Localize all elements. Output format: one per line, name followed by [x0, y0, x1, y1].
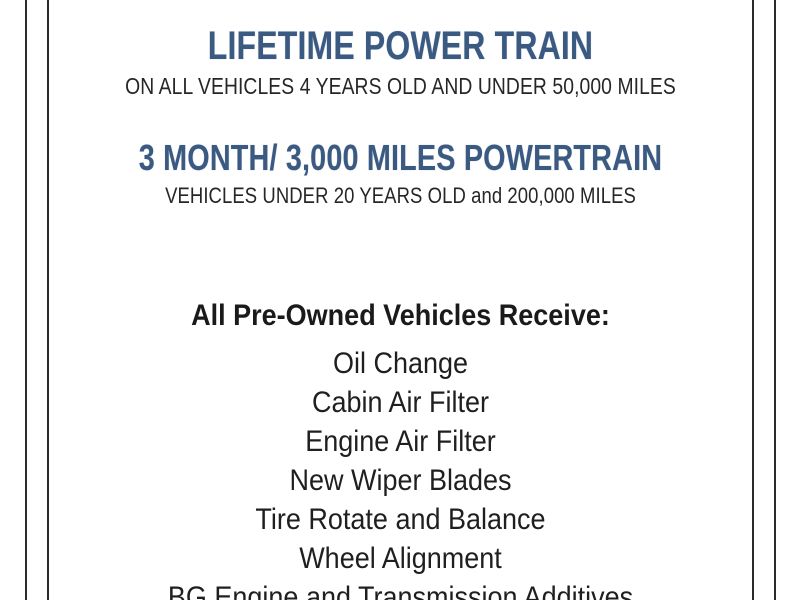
warranty-headline-three-month: 3 MONTH/ 3,000 MILES POWERTRAIN	[119, 140, 681, 176]
included-service-item: Tire Rotate and Balance	[84, 500, 717, 539]
included-service-item: Oil Change	[84, 344, 717, 383]
included-services-block: All Pre-Owned Vehicles Receive: Oil Chan…	[49, 301, 752, 600]
included-service-item: New Wiper Blades	[84, 461, 717, 500]
included-service-item: Cabin Air Filter	[84, 383, 717, 422]
warranty-offer-three-month: 3 MONTH/ 3,000 MILES POWERTRAIN VEHICLES…	[49, 140, 752, 207]
frame-rule-inner-right	[752, 0, 754, 600]
frame-rule-outer-left	[25, 0, 27, 600]
included-service-item: Wheel Alignment	[84, 539, 717, 578]
flyer-content: LIFETIME POWER TRAIN ON ALL VEHICLES 4 Y…	[49, 0, 752, 600]
warranty-headline-lifetime: LIFETIME POWER TRAIN	[119, 26, 681, 66]
included-service-item: BG Engine and Transmission Additives	[84, 578, 717, 600]
included-services-list: Oil ChangeCabin Air FilterEngine Air Fil…	[49, 344, 752, 600]
included-service-item: Engine Air Filter	[84, 422, 717, 461]
frame-rule-outer-right	[774, 0, 776, 600]
included-services-heading: All Pre-Owned Vehicles Receive:	[84, 301, 717, 331]
warranty-subline-lifetime: ON ALL VEHICLES 4 YEARS OLD AND UNDER 50…	[105, 75, 696, 98]
warranty-flyer: LIFETIME POWER TRAIN ON ALL VEHICLES 4 Y…	[0, 0, 800, 600]
warranty-offer-lifetime: LIFETIME POWER TRAIN ON ALL VEHICLES 4 Y…	[49, 26, 752, 98]
warranty-subline-three-month: VEHICLES UNDER 20 YEARS OLD and 200,000 …	[105, 185, 696, 207]
